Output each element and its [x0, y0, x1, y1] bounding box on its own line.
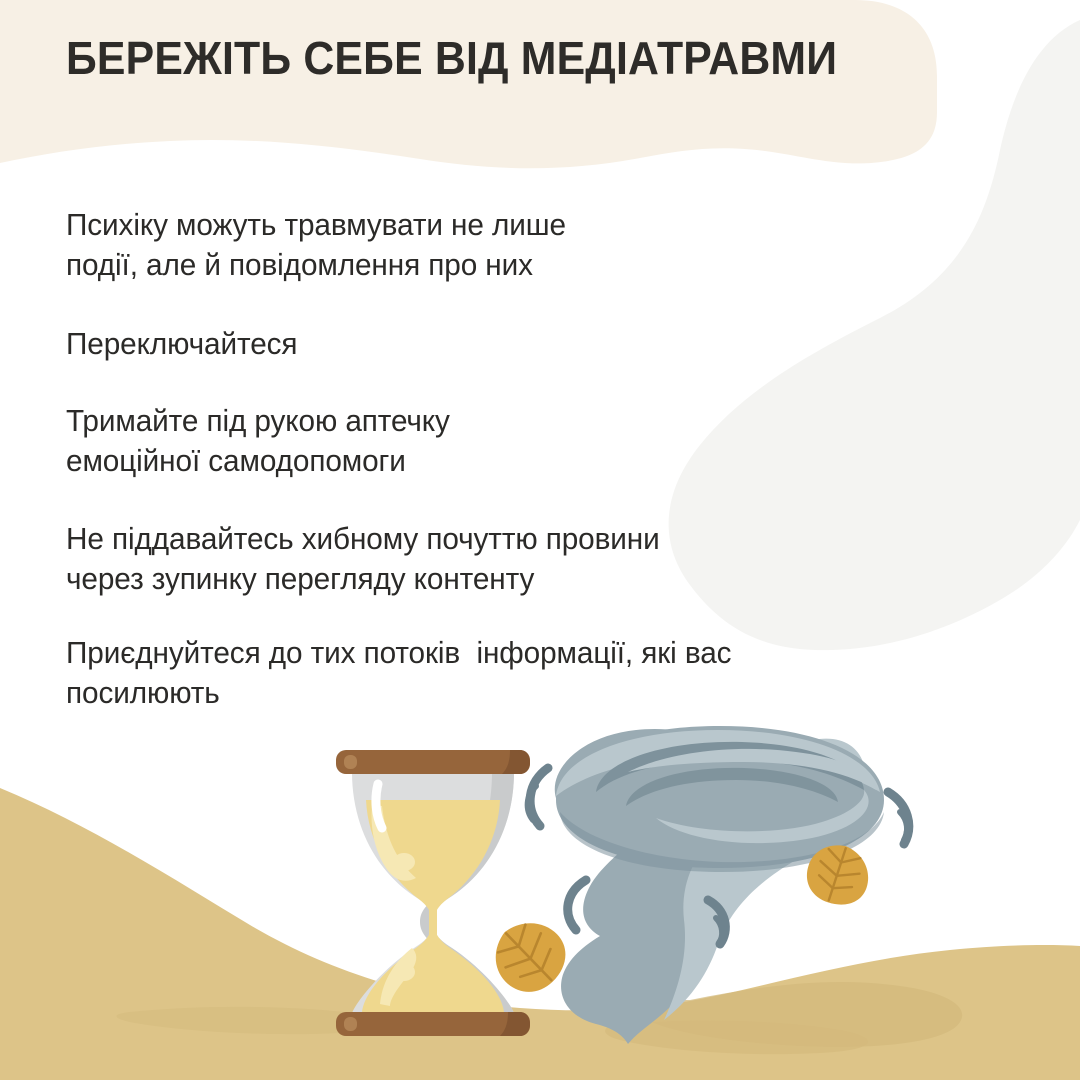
- body-line: Тримайте під рукою аптечку: [66, 402, 450, 442]
- body-line: Не піддавайтесь хибному почуттю провини: [66, 520, 660, 560]
- body-line: події, але й повідомлення про них: [66, 246, 566, 286]
- body-line: посилюють: [66, 674, 731, 714]
- poster-root: БЕРЕЖІТЬ СЕБЕ ВІД МЕДІАТРАВМИ Психіку мо…: [0, 0, 1080, 1080]
- body-block-first-aid-kit: Тримайте під рукою аптечку емоційної сам…: [66, 402, 450, 481]
- body-block-guilt: Не піддавайтесь хибному почуттю провини …: [66, 520, 660, 599]
- body-block-join-streams: Приєднуйтеся до тих потоків інформації, …: [66, 634, 731, 713]
- body-line: емоційної самодопомоги: [66, 442, 450, 482]
- page-title: БЕРЕЖІТЬ СЕБЕ ВІД МЕДІАТРАВМИ: [66, 34, 847, 84]
- body-line: Переключайтеся: [66, 325, 297, 365]
- body-block-media-trauma: Психіку можуть травмувати не лише події,…: [66, 206, 566, 285]
- body-line: Психіку можуть травмувати не лише: [66, 206, 566, 246]
- body-block-switch: Переключайтеся: [66, 325, 297, 365]
- body-line: через зупинку перегляду контенту: [66, 560, 660, 600]
- body-line: Приєднуйтеся до тих потоків інформації, …: [66, 634, 731, 674]
- text-content: БЕРЕЖІТЬ СЕБЕ ВІД МЕДІАТРАВМИ Психіку мо…: [0, 0, 1080, 1080]
